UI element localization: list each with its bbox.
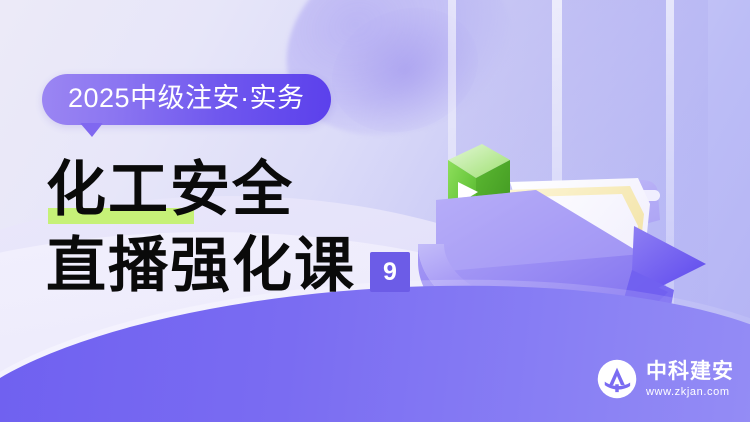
course-category-pill: 2025中级注安·实务 [42, 74, 331, 125]
zkjan-circle-logo-icon [596, 358, 638, 400]
headline-line-1: 化工安全 [46, 155, 294, 225]
brand-logo-text: 中科建安 www.zkjan.com [646, 361, 734, 398]
course-category-label: 2025中级注安·实务 [68, 83, 305, 113]
brand-website-url: www.zkjan.com [646, 387, 734, 398]
speech-bubble-tail-icon [80, 123, 103, 137]
headline-line-2-row: 直播强化课 9 [46, 228, 410, 304]
brand-company-name: 中科建安 [646, 361, 734, 382]
course-category-badge: 2025中级注安·实务 [42, 74, 331, 125]
course-promo-banner: 2025中级注安·实务 化工安全 直播强化课 9 中科建安 www.zkjan.… [0, 0, 750, 422]
headline-line-1-row: 化工安全 [46, 152, 410, 228]
headline-line-2: 直播强化课 [46, 228, 356, 304]
brand-logo: 中科建安 www.zkjan.com [596, 358, 734, 400]
headline-block: 化工安全 直播强化课 9 [46, 152, 410, 304]
chapter-number-badge: 9 [370, 252, 410, 292]
